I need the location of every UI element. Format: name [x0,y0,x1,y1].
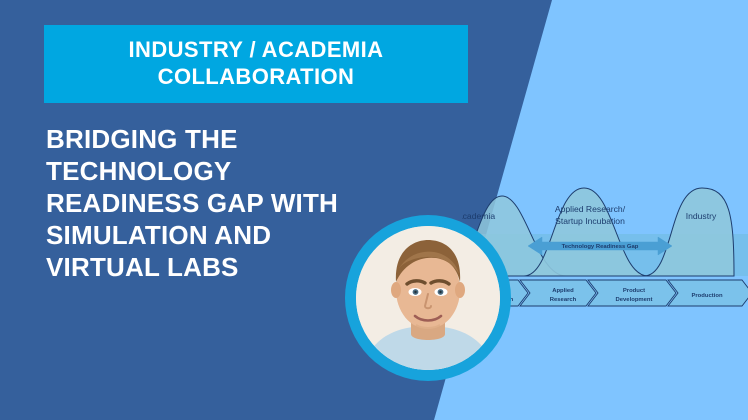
presentation-slide: INDUSTRY / ACADEMIA COLLABORATION BRIDGI… [0,0,748,420]
avatar-photo [356,226,500,370]
chevron-production-line1: Production [691,293,722,299]
applied-research-label-line1: Applied Research/ [555,204,626,214]
eyebrow-text: INDUSTRY / ACADEMIA COLLABORATION [129,37,384,91]
chevron-applied-research-line1: Applied [552,288,574,294]
chevron-product-development-line2: Development [616,297,653,303]
academia-label: Academia [462,211,495,221]
page-title: BRIDGING THE TECHNOLOGY READINESS GAP WI… [46,124,346,284]
industry-label: Industry [686,211,717,221]
avatar [345,215,511,381]
applied-research-label-line2: Startup Incubation [555,216,625,226]
technology-readiness-gap-label: Technology Readiness Gap [562,244,639,250]
applied-research-curve [524,188,648,276]
chevron-product-development-line1: Product [623,288,645,294]
eyebrow-banner: INDUSTRY / ACADEMIA COLLABORATION [44,25,468,103]
chevron-applied-research-line2: Research [550,297,577,303]
